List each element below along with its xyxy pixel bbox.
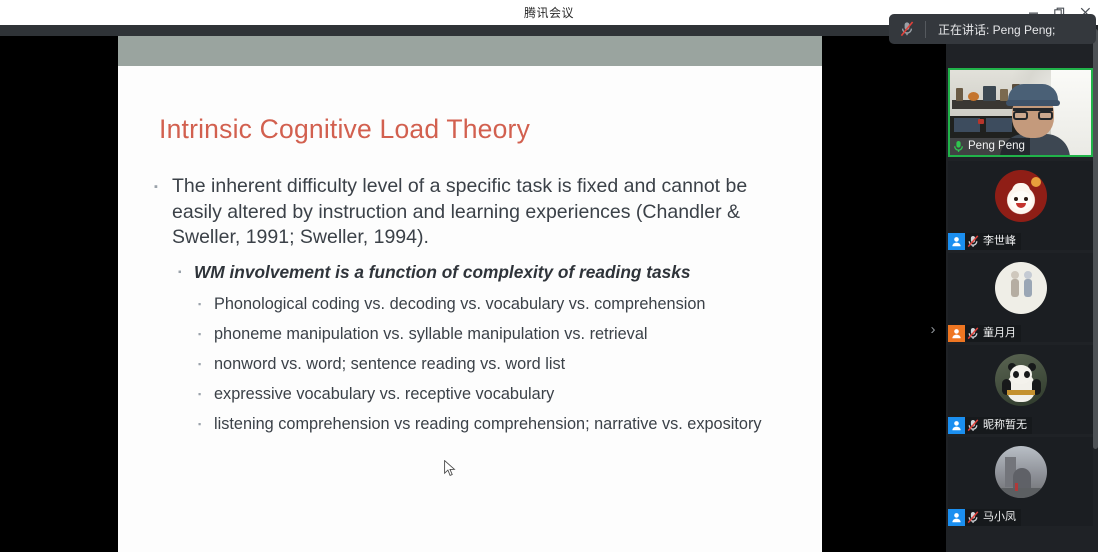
bullet-level3-item: ▪ listening comprehension vs reading com…: [198, 412, 802, 436]
bullet-level2: ▪ WM involvement is a function of comple…: [178, 260, 802, 286]
speaking-toast: 正在讲话: Peng Peng;: [889, 14, 1096, 44]
bullet-dot-icon: ▪: [198, 352, 214, 376]
bullet-dot-icon: ▪: [178, 260, 194, 286]
slide-banner: [118, 36, 822, 66]
bullet-level2-text: WM involvement is a function of complexi…: [194, 260, 690, 286]
shelf-object: [1000, 89, 1008, 101]
participant-tile-li-shifeng[interactable]: 李世峰: [948, 161, 1093, 250]
bullet-level3-item: ▪ nonword vs. word; sentence reading vs.…: [198, 352, 802, 376]
avatar-badge-icon: [948, 417, 965, 434]
avatar-person: [1015, 483, 1018, 491]
avatar-eye: [1024, 197, 1028, 201]
slide-title: Intrinsic Cognitive Load Theory: [159, 114, 530, 145]
participant-tile-ma-xiaofeng[interactable]: 马小凤: [948, 437, 1093, 526]
bullet-dot-icon: ▪: [198, 292, 214, 316]
bullet-level3-text: Phonological coding vs. decoding vs. voc…: [214, 292, 779, 316]
participant-rail-scrollbar[interactable]: [1093, 29, 1098, 449]
participant-name: 李世峰: [981, 233, 1016, 250]
bullet-level3-text: nonword vs. word; sentence reading vs. w…: [214, 352, 779, 376]
bullet-level3-text: listening comprehension vs reading compr…: [214, 412, 779, 436]
avatar-badge-icon: [948, 325, 965, 342]
avatar-hat: [1012, 183, 1030, 191]
shelf-object: [956, 88, 963, 101]
bullet-level3-item: ▪ expressive vocabulary vs. receptive vo…: [198, 382, 802, 406]
avatar: [995, 446, 1047, 498]
person-hat-brim: [1006, 100, 1060, 106]
microphone-muted-icon: [965, 325, 981, 342]
shelf-object: [968, 92, 979, 101]
avatar: [995, 354, 1047, 406]
bullet-level3-text: phoneme manipulation vs. syllable manipu…: [214, 322, 779, 346]
microphone-muted-icon: [965, 233, 981, 250]
bullet-dot-icon: ▪: [154, 174, 172, 251]
avatar-eye: [1014, 197, 1018, 201]
avatar-figure: [1011, 279, 1019, 297]
bullet-level1-text: The inherent difficulty level of a speci…: [172, 174, 802, 251]
bullet-level3-text: expressive vocabulary vs. receptive voca…: [214, 382, 779, 406]
monitor: [954, 118, 980, 132]
participant-tile-tong-yueyue[interactable]: 童月月: [948, 253, 1093, 342]
microphone-muted-icon: [965, 417, 981, 434]
participant-name: 昵称暂无: [981, 417, 1027, 434]
participant-name: 童月月: [981, 325, 1016, 342]
bullet-dot-icon: ▪: [198, 412, 214, 436]
participant-name: Peng Peng: [966, 138, 1025, 155]
avatar-eye: [1024, 371, 1030, 378]
participant-rail: Peng Peng: [946, 25, 1098, 552]
avatar-belt: [1007, 390, 1035, 395]
bullet-dot-icon: ▪: [198, 382, 214, 406]
participant-name: 马小凤: [981, 509, 1016, 526]
bullet-level1: ▪ The inherent difficulty level of a spe…: [154, 174, 802, 251]
avatar: [995, 170, 1047, 222]
avatar-eye: [1013, 371, 1019, 378]
participant-namebar: 李世峰: [948, 233, 1021, 250]
shared-screen-stage: Intrinsic Cognitive Load Theory ▪ The in…: [0, 25, 1098, 552]
monitor: [986, 118, 1012, 132]
stage-top-band: [0, 25, 945, 36]
bullet-dot-icon: ▪: [198, 322, 214, 346]
presentation-slide: Intrinsic Cognitive Load Theory ▪ The in…: [118, 36, 822, 552]
window-title: 腾讯会议: [524, 4, 574, 21]
collapse-panel-chevron-icon[interactable]: ›: [926, 320, 940, 340]
avatar: [995, 262, 1047, 314]
participant-namebar: 马小凤: [948, 509, 1021, 526]
bullet-level3-item: ▪ phoneme manipulation vs. syllable mani…: [198, 322, 802, 346]
participant-namebar: 昵称暂无: [948, 417, 1032, 434]
avatar-badge-icon: [948, 233, 965, 250]
avatar-ground: [995, 488, 1047, 498]
microphone-on-icon: [950, 138, 966, 155]
participant-namebar: 童月月: [948, 325, 1021, 342]
bullet-level3-item: ▪ Phonological coding vs. decoding vs. v…: [198, 292, 802, 316]
participant-tile-no-nickname[interactable]: 昵称暂无: [948, 345, 1093, 434]
person-glasses: [1013, 108, 1053, 117]
avatar-badge-icon: [948, 509, 965, 526]
avatar-figure: [1024, 279, 1032, 297]
shelf-object: [983, 86, 996, 101]
avatar-moon: [1031, 177, 1041, 187]
slide-body: ▪ The inherent difficulty level of a spe…: [154, 174, 802, 436]
microphone-muted-icon: [965, 509, 981, 526]
microphone-muted-icon: [889, 14, 925, 44]
participant-tile-peng-peng[interactable]: Peng Peng: [948, 68, 1093, 157]
participant-namebar: Peng Peng: [950, 138, 1030, 155]
desk-object: [978, 119, 984, 124]
speaking-toast-text: 正在讲话: Peng Peng;: [926, 21, 1055, 38]
cursor-arrow-icon: [444, 460, 456, 477]
